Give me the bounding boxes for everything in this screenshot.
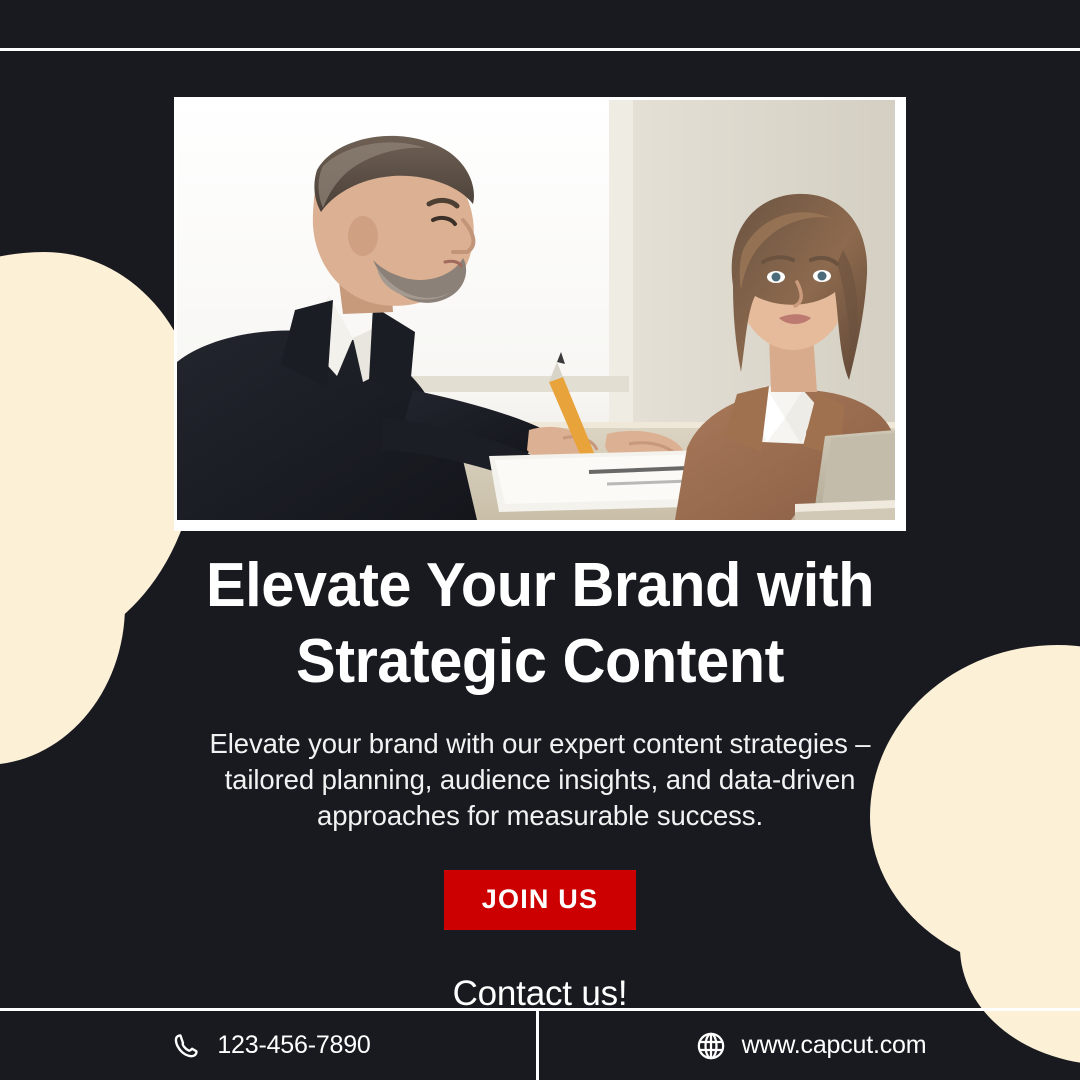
cta-container: JOIN US (0, 870, 1080, 930)
page-title: Elevate Your Brand with Strategic Conten… (175, 548, 905, 700)
website-url-text: www.capcut.com (742, 1031, 927, 1060)
subtitle-text: Elevate your brand with our expert conte… (180, 726, 900, 834)
footer-website-cell[interactable]: www.capcut.com (540, 1011, 1080, 1080)
poster-canvas: Elevate Your Brand with Strategic Conten… (0, 0, 1080, 1080)
hero-photo (177, 100, 895, 520)
footer-vertical-divider (536, 1011, 539, 1080)
hero-photo-frame (174, 97, 906, 531)
content-block: Elevate Your Brand with Strategic Conten… (0, 548, 1080, 1014)
phone-number-text: 123-456-7890 (217, 1031, 370, 1060)
phone-icon (169, 1029, 203, 1063)
top-divider-rule (0, 48, 1080, 51)
footer-phone-cell[interactable]: 123-456-7890 (0, 1011, 540, 1080)
footer-bar: 123-456-7890 www.capcut.com (0, 1011, 1080, 1080)
contact-heading: Contact us! (0, 974, 1080, 1014)
globe-icon (694, 1029, 728, 1063)
join-us-button[interactable]: JOIN US (444, 870, 636, 930)
